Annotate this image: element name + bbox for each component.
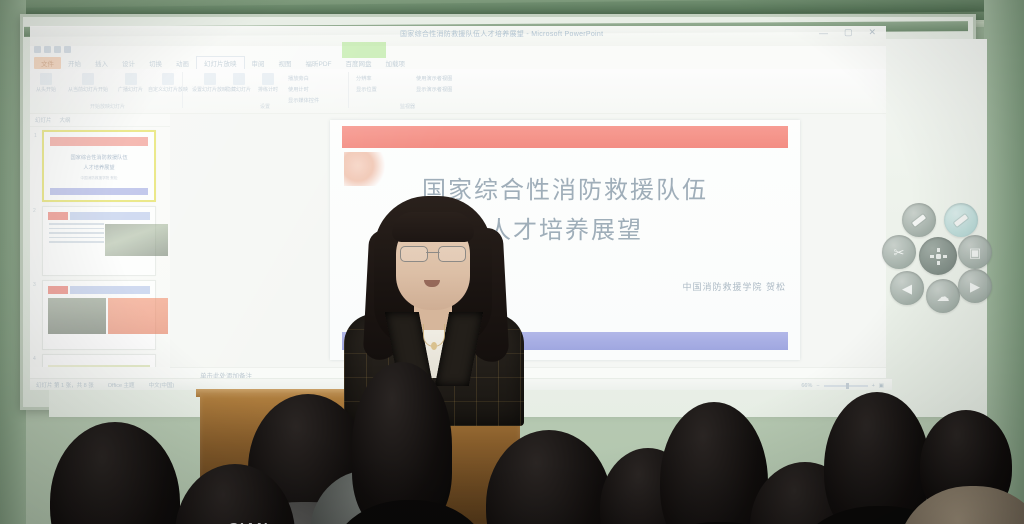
minimize-icon[interactable]: —: [819, 28, 828, 38]
ribbon-tab-foxit-pdf[interactable]: 福昕PDF: [299, 57, 339, 69]
title-bar: 国家综合性消防救援队伍人才培养展望 - Microsoft PowerPoint…: [30, 26, 886, 46]
from-current-slide-icon[interactable]: [82, 73, 94, 85]
ribbon-tab-file[interactable]: 文件: [34, 57, 61, 69]
thumbnail-list[interactable]: 1 国家综合性消防救援队伍 人才培养展望 中国消防救援学院 贺松 2: [30, 127, 162, 367]
presenter-bangs: [392, 212, 474, 242]
customize-icon[interactable]: [64, 46, 71, 53]
restore-icon[interactable]: ▢: [844, 27, 853, 38]
ribbon-group-label-monitors: 监视器: [400, 103, 415, 110]
redo-icon[interactable]: [54, 46, 61, 53]
ribbon-tab-transitions[interactable]: 切换: [142, 57, 169, 69]
window-controls[interactable]: — ▢ ✕: [819, 27, 876, 38]
arrow-left-icon[interactable]: ◀: [890, 271, 924, 305]
thumb-diagram: [48, 365, 150, 367]
ribbon-cmd-rehearse[interactable]: 排练计时: [258, 73, 278, 93]
slide-thumbnail-panel[interactable]: 幻灯片 大纲 1 国家综合性消防救援队伍 人才培养展望 中国消防救援学院 贺松 …: [30, 114, 171, 367]
save-icon[interactable]: [34, 46, 41, 53]
ribbon-tab-animations[interactable]: 动画: [169, 57, 196, 69]
thumb-photo-right: [108, 298, 168, 334]
presenter-necklace: [423, 324, 445, 347]
panel-tab-slides[interactable]: 幻灯片: [35, 116, 52, 124]
audience-row: CIAN: [0, 374, 1024, 524]
eraser-icon[interactable]: ☁: [926, 279, 960, 313]
ribbon-tab-home[interactable]: 开始: [61, 57, 88, 69]
thumb-title-line1: 国家综合性消防救援队伍: [44, 154, 154, 163]
close-icon[interactable]: ✕: [868, 27, 876, 38]
panel-tab-strip[interactable]: 幻灯片 大纲: [30, 114, 171, 127]
classroom-presentation-photo: 国家综合性消防救援队伍人才培养展望 - Microsoft PowerPoint…: [0, 0, 1024, 524]
ribbon-group-label-setup: 设置: [260, 103, 270, 110]
jacket-text: CIAN: [228, 520, 269, 524]
ribbon-cmd-setup-show[interactable]: 设置幻灯片放映: [192, 73, 227, 93]
thumb-heading-bar: [70, 212, 150, 220]
thumbnail-number: 3: [33, 282, 36, 288]
slide-top-banner: [342, 126, 788, 148]
ribbon-tab-view[interactable]: 视图: [272, 57, 299, 69]
ribbon-tab-design[interactable]: 设计: [115, 57, 142, 69]
hide-slide-icon[interactable]: [233, 73, 245, 85]
whiteboard-control-pad[interactable]: ✂ ▣ ◀ ☁ ▶: [886, 203, 990, 307]
ribbon-cmd-from-current[interactable]: 从当前幻灯片开始: [68, 73, 108, 93]
scissors-icon[interactable]: ✂: [882, 235, 916, 269]
highlighter-icon[interactable]: [944, 203, 978, 237]
ribbon-group-label-start-show: 开始放映幻灯片: [90, 103, 125, 110]
ribbon-check-media-controls[interactable]: 显示媒体控件: [288, 97, 319, 104]
thumb-title-line2: 人才培养展望: [44, 164, 154, 173]
thumbnail-slide-4[interactable]: 4: [42, 354, 156, 367]
ribbon-cmd-from-beginning[interactable]: 从头开始: [36, 73, 56, 93]
from-beginning-icon[interactable]: [40, 73, 52, 85]
thumb-subtitle: 中国消防救援学院 贺松: [44, 176, 154, 181]
screen-capture-icon[interactable]: ▣: [958, 235, 992, 269]
audience-head: [50, 422, 180, 524]
ribbon-check-narration[interactable]: 播放旁白: [288, 75, 309, 82]
quick-access-toolbar[interactable]: [34, 46, 71, 53]
thumb-text-lines: [49, 223, 104, 246]
ribbon-cmd-hide-slide[interactable]: 隐藏幻灯片: [226, 73, 251, 93]
ribbon-separator-2: [348, 72, 349, 108]
ribbon-monitor-position[interactable]: 显示位置: [356, 86, 377, 93]
ribbon-tab-review[interactable]: 审阅: [245, 57, 272, 69]
rehearse-timings-icon[interactable]: [262, 73, 274, 85]
thumbnail-slide-1[interactable]: 1 国家综合性消防救援队伍 人才培养展望 中国消防救援学院 贺松: [42, 130, 156, 202]
panel-tab-outline[interactable]: 大纲: [60, 116, 71, 124]
thumb-photo: [105, 224, 168, 256]
audience-head: [824, 392, 930, 524]
ribbon-tab-insert[interactable]: 插入: [88, 57, 115, 69]
thumbnail-number: 1: [34, 133, 37, 139]
custom-slideshow-icon[interactable]: [162, 73, 174, 85]
ribbon-separator-1: [182, 72, 183, 108]
thumbnail-number: 4: [33, 356, 36, 362]
arrow-right-icon[interactable]: ▶: [958, 269, 992, 303]
ribbon-tab-strip[interactable]: 文件 开始 插入 设计 切换 动画 幻灯片放映 审阅 视图 福昕PDF 百度网盘…: [34, 56, 890, 69]
presenter-glasses: [400, 246, 466, 260]
slide-editing-area[interactable]: 国家综合性消防救援队伍 人才培养展望 中国消防救援学院 贺松: [170, 114, 886, 367]
thumb-photo-left: [48, 298, 106, 334]
ribbon-presenter-view-toggle[interactable]: 使用演示者视图: [416, 75, 452, 82]
move-pad-icon[interactable]: [919, 237, 957, 275]
window-title: 国家综合性消防救援队伍人才培养展望 - Microsoft PowerPoint: [400, 29, 603, 39]
pen-icon[interactable]: [902, 203, 936, 237]
thumb-top-band: [50, 137, 148, 146]
undo-icon[interactable]: [44, 46, 51, 53]
audience-head: [486, 430, 612, 524]
ribbon-body[interactable]: 从头开始 从当前幻灯片开始 广播幻灯片 自定义幻灯片放映 设置幻灯片放映: [30, 69, 886, 114]
ribbon-monitor-resolution[interactable]: 分辨率: [356, 75, 372, 82]
setup-slideshow-icon[interactable]: [204, 73, 216, 85]
thumbnail-number: 2: [33, 208, 36, 214]
ribbon-show-presenter-view[interactable]: 显示演示者视图: [416, 86, 452, 93]
broadcast-slideshow-icon[interactable]: [125, 73, 137, 85]
thumb-heading-marker: [48, 212, 68, 220]
ribbon-tab-baidu-netdisk[interactable]: 百度网盘: [339, 57, 379, 69]
thumb-heading-marker: [48, 286, 68, 294]
ribbon-tab-addins[interactable]: 加载项: [379, 57, 413, 69]
thumbnail-slide-3[interactable]: 3: [42, 280, 156, 350]
thumb-bottom-band: [50, 188, 148, 195]
thumbnail-slide-2[interactable]: 2: [42, 206, 156, 276]
ribbon-cmd-broadcast[interactable]: 广播幻灯片: [118, 73, 143, 93]
thumb-heading-bar: [70, 286, 150, 294]
ribbon-tab-slideshow[interactable]: 幻灯片放映: [196, 56, 245, 70]
ribbon-check-timings[interactable]: 使用计时: [288, 86, 309, 93]
